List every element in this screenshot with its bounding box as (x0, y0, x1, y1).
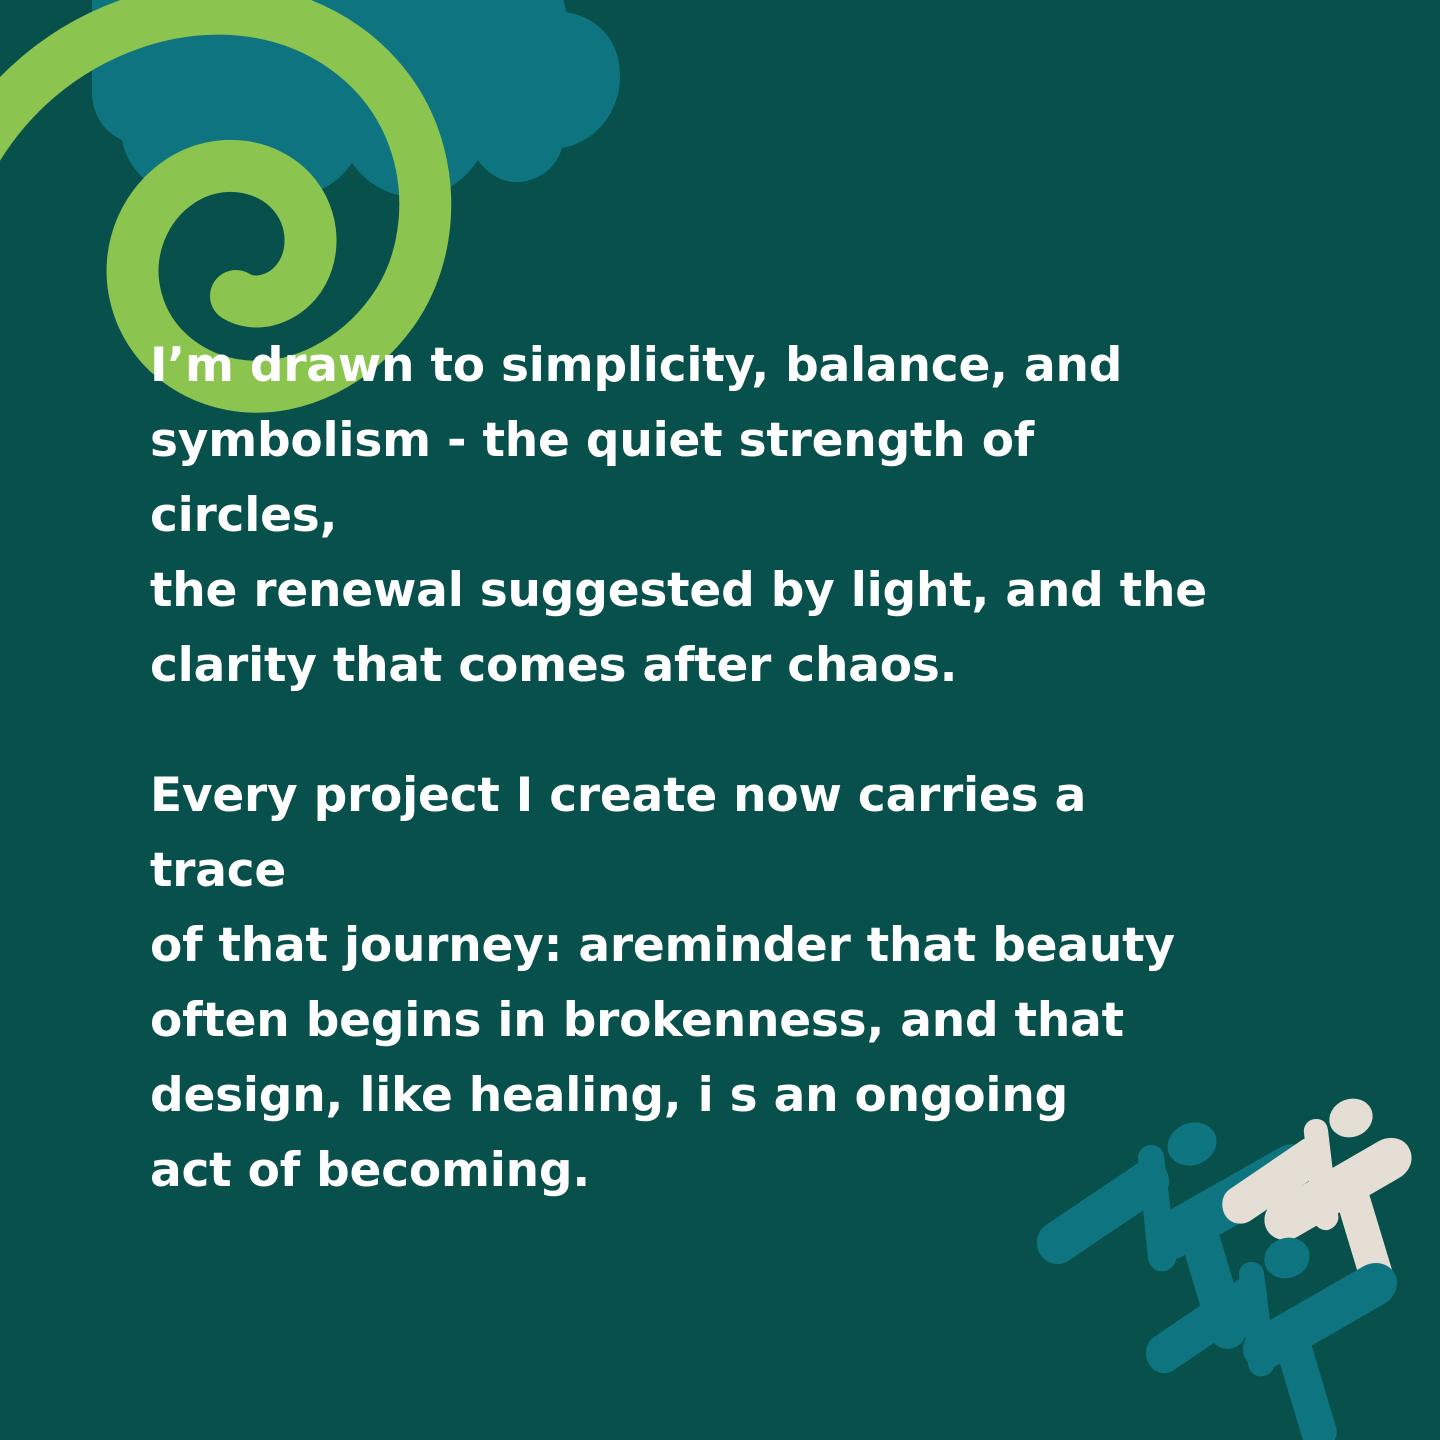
paragraph-two: Every project I create now carries a tra… (150, 758, 1230, 1208)
dancing-figure-teal-lower (1146, 1231, 1397, 1440)
poster-canvas: I’m drawn to simplicity, balance, and sy… (0, 0, 1440, 1440)
body-copy-block: I’m drawn to simplicity, balance, and sy… (150, 328, 1230, 1208)
dancing-figure-cream-right (1222, 1093, 1411, 1295)
paragraph-one: I’m drawn to simplicity, balance, and sy… (150, 328, 1230, 703)
cloud-blob-shape (92, 0, 620, 197)
